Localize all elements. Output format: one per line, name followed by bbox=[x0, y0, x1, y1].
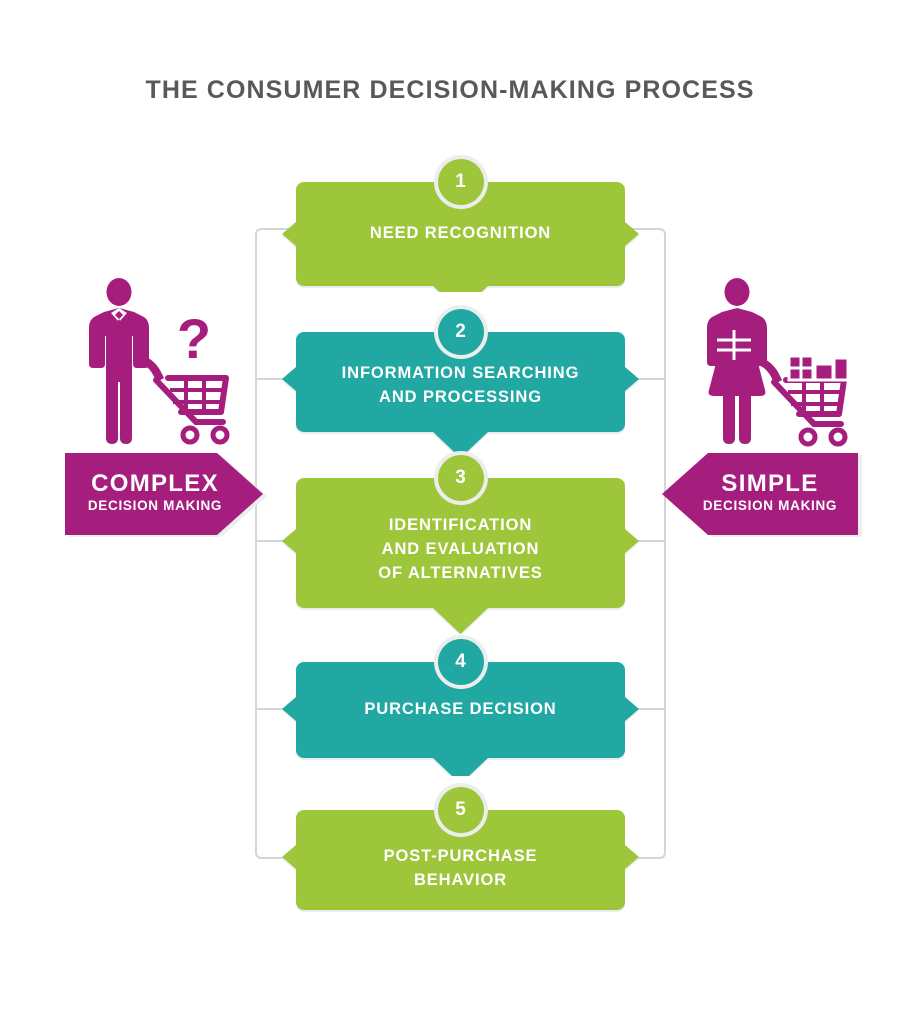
step-2-number: 2 bbox=[455, 321, 466, 343]
step-5-number-badge: 5 bbox=[438, 787, 484, 833]
step-1-number-badge: 1 bbox=[438, 159, 484, 205]
step-4-number-badge: 4 bbox=[438, 639, 484, 685]
step-5-number: 5 bbox=[455, 799, 466, 821]
simple-arrow-shape bbox=[660, 451, 870, 537]
process-step-1[interactable]: 1 NEED RECOGNITION bbox=[282, 182, 639, 292]
step-4-number: 4 bbox=[455, 651, 466, 673]
complex-decision-label[interactable]: COMPLEX DECISION MAKING bbox=[63, 451, 263, 533]
businessman-figure-svg: ? bbox=[78, 278, 238, 448]
woman-figure-svg bbox=[695, 278, 855, 448]
step-3-number-badge: 3 bbox=[438, 455, 484, 501]
step-2-number-badge: 2 bbox=[438, 309, 484, 355]
infographic-canvas: THE CONSUMER DECISION-MAKING PROCESS 1 bbox=[0, 0, 900, 1024]
woman-with-full-cart-icon bbox=[695, 278, 855, 448]
process-step-5[interactable]: 5 POST-PURCHASE BEHAVIOR bbox=[282, 810, 639, 910]
step-1-number: 1 bbox=[455, 171, 466, 193]
complex-arrow-shape bbox=[63, 451, 273, 537]
process-step-4[interactable]: 4 PURCHASE DECISION bbox=[282, 662, 639, 772]
businessman-with-empty-cart-icon: ? bbox=[78, 278, 238, 448]
process-step-3[interactable]: 3 IDENTIFICATION AND EVALUATION OF ALTER… bbox=[282, 478, 639, 630]
step-3-number: 3 bbox=[455, 467, 466, 489]
process-step-2[interactable]: 2 INFORMATION SEARCHING AND PROCESSING bbox=[282, 332, 639, 448]
simple-decision-label[interactable]: SIMPLE DECISION MAKING bbox=[660, 451, 860, 533]
question-mark-glyph: ? bbox=[177, 307, 211, 370]
step-3-banner-shape bbox=[282, 478, 639, 634]
